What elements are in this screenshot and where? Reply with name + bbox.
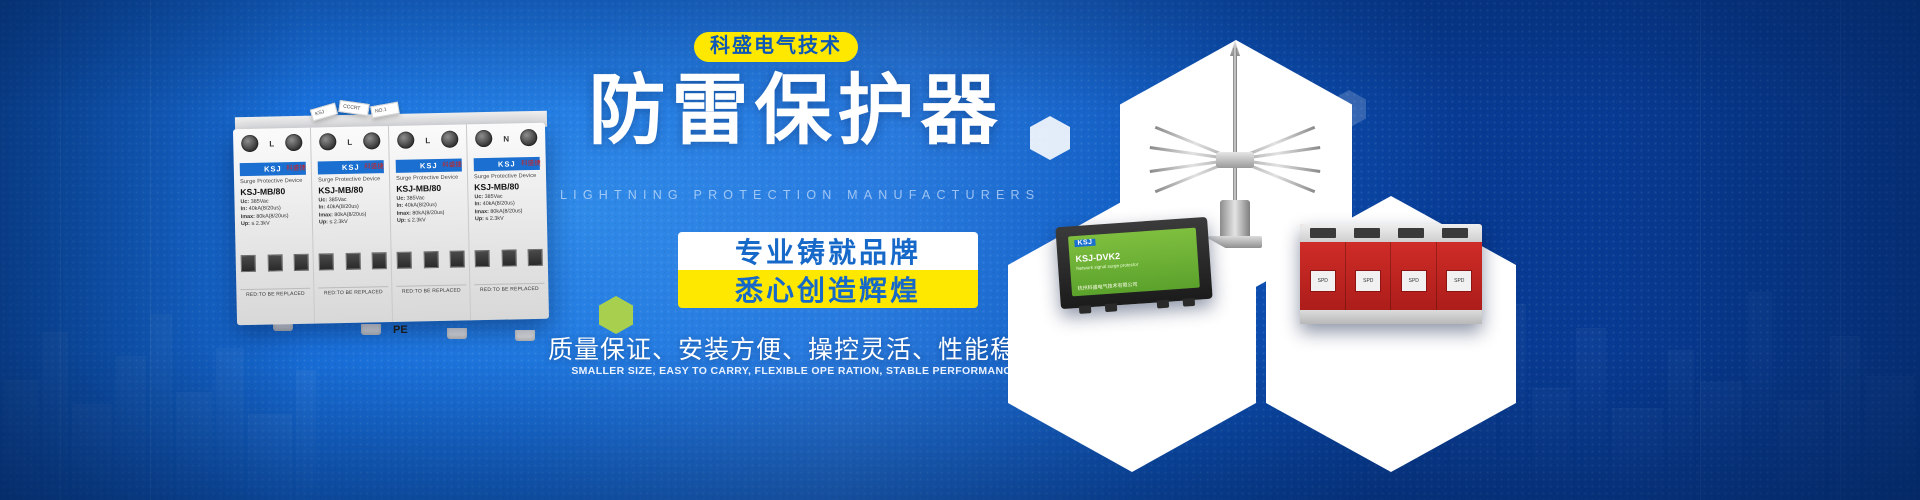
indicator-window: SPD bbox=[1310, 270, 1336, 292]
indicator-window: SPD bbox=[1401, 270, 1427, 292]
spec-row: Imax: 80kA(8/20us) bbox=[241, 213, 289, 220]
device-foot bbox=[515, 330, 535, 341]
terminal-screw-icon bbox=[397, 131, 414, 148]
pe-terminal-label: PE bbox=[393, 324, 408, 336]
spd-pole-1: L KSJ 科盛捷 Surge Protective Device KSJ-MB… bbox=[233, 128, 315, 326]
spd-top-terminals bbox=[1300, 224, 1482, 242]
device-model-label: KSJ-MB/80 bbox=[318, 185, 363, 196]
brand-mark-cn: 科盛捷 bbox=[521, 157, 541, 167]
terminal-screw-icon bbox=[475, 130, 492, 147]
manufacturer-label: 杭州科盛电气技术有限公司 bbox=[1077, 281, 1137, 292]
banner-title: 防雷保护器 bbox=[566, 73, 1026, 150]
spd-pole-2: L KSJ 科盛捷 Surge Protective Device KSJ-MB… bbox=[311, 126, 393, 324]
signal-surge-protector: KSJ KSJ-DVK2 Network signal surge protec… bbox=[1055, 217, 1212, 309]
hexagon-decor-icon bbox=[1030, 116, 1070, 160]
spd-pole-4: N KSJ 科盛捷 Surge Protective Device KSJ-MB… bbox=[467, 123, 549, 321]
indicator-windows bbox=[241, 254, 309, 272]
spec-row: In: 40kA(8/20us) bbox=[241, 206, 281, 213]
terminal-screw-icon bbox=[363, 132, 380, 149]
promo-banner: L KSJ 科盛捷 Surge Protective Device KSJ-MB… bbox=[0, 0, 1920, 500]
spec-row: Uc: 385Vac bbox=[240, 199, 268, 206]
spec-row: Imax: 80kA(8/20us) bbox=[397, 210, 445, 217]
terminal-screw-icon bbox=[285, 134, 302, 151]
device-foot bbox=[447, 328, 467, 339]
device-spec-list: Uc: 385Vac In: 40kA(8/20us) Imax: 80kA(8… bbox=[474, 193, 522, 224]
box-face: KSJ KSJ-DVK2 Network signal surge protec… bbox=[1068, 228, 1200, 297]
box-terminal bbox=[1079, 305, 1092, 314]
spec-row: Uc: 385Vac bbox=[318, 197, 346, 204]
brand-mark-cn: 科盛捷 bbox=[286, 162, 306, 172]
spec-row: In: 40kA(8/20us) bbox=[475, 201, 515, 208]
terminal-screw-icon bbox=[520, 129, 537, 146]
device-model-label: KSJ-MB/80 bbox=[240, 186, 285, 197]
pole-terminal-label: N bbox=[503, 135, 509, 144]
spec-row: Uc: 385Vac bbox=[474, 194, 502, 201]
spd-module-assembly: L KSJ 科盛捷 Surge Protective Device KSJ-MB… bbox=[233, 123, 549, 325]
indicator-windows: SPD SPD SPD SPD bbox=[1300, 270, 1482, 292]
spd-pole-3: L KSJ 科盛捷 Surge Protective Device KSJ-MB… bbox=[389, 124, 471, 322]
spec-row: In: 40kA(8/20us) bbox=[397, 202, 437, 209]
device-type-label: Surge Protective Device bbox=[318, 176, 380, 183]
terminal-slot bbox=[1442, 228, 1468, 238]
indicator-windows bbox=[319, 252, 387, 270]
brand-mark-cn: 科盛捷 bbox=[442, 159, 462, 169]
rod-hub bbox=[1216, 152, 1254, 168]
rod-mast bbox=[1233, 48, 1237, 208]
device-spec-list: Uc: 385Vac In: 40kA(8/20us) Imax: 80kA(8… bbox=[396, 195, 444, 226]
device-foot bbox=[361, 324, 381, 335]
spec-row: Up: ≤ 2.3kV bbox=[241, 221, 270, 228]
device-model-label: KSJ-DVK2 bbox=[1075, 251, 1120, 264]
box-terminal bbox=[1183, 298, 1196, 307]
device-model-label: KSJ-MB/80 bbox=[474, 181, 519, 192]
rod-base bbox=[1220, 200, 1250, 240]
feature-list-en: SMALLER SIZE, EASY TO CARRY, FLEXIBLE OP… bbox=[540, 365, 1050, 377]
device-type-label: Surge Protective Device bbox=[474, 173, 536, 180]
spec-row: Imax: 80kA(8/20us) bbox=[475, 208, 523, 215]
device-model-label: KSJ-MB/80 bbox=[396, 183, 441, 194]
device-spec-list: Uc: 385Vac In: 40kA(8/20us) Imax: 80kA(8… bbox=[318, 197, 366, 228]
spec-row: Imax: 80kA(8/20us) bbox=[319, 211, 367, 218]
surge-protector-product-photo: L KSJ 科盛捷 Surge Protective Device KSJ-MB… bbox=[215, 108, 565, 338]
replace-note: RED:TO BE REPLACED bbox=[396, 284, 466, 294]
spec-row: Up: ≤ 2.3kV bbox=[319, 219, 348, 226]
pole-terminal-label: L bbox=[269, 139, 274, 148]
device-type-label: Surge Protective Device bbox=[396, 175, 458, 182]
indicator-windows bbox=[475, 249, 543, 267]
spec-row: In: 40kA(8/20us) bbox=[319, 204, 359, 211]
company-badge: 科盛电气技术 bbox=[694, 32, 858, 62]
red-surge-protector: SPD SPD SPD SPD bbox=[1300, 224, 1482, 324]
spd-bottom-rail bbox=[1300, 310, 1482, 324]
replace-note: RED:TO BE REPLACED bbox=[318, 286, 388, 296]
indicator-window: SPD bbox=[1355, 270, 1381, 292]
terminal-slot bbox=[1354, 228, 1380, 238]
indicator-window: SPD bbox=[1446, 270, 1472, 292]
brand-mark: KSJ bbox=[1074, 239, 1096, 247]
spec-row: Up: ≤ 2.3kV bbox=[397, 217, 426, 224]
feature-list-cn: 质量保证、安装方便、操控灵活、性能稳定 bbox=[540, 330, 1050, 366]
hexagon-accent-icon bbox=[599, 296, 633, 334]
brand-mark-cn: 科盛捷 bbox=[364, 160, 384, 170]
spec-row: Up: ≤ 2.3kV bbox=[475, 216, 504, 223]
box-terminal bbox=[1157, 300, 1170, 309]
pole-terminal-label: L bbox=[347, 138, 352, 147]
spec-row: Uc: 385Vac bbox=[396, 195, 424, 202]
banner-copy-block: 科盛电气技术 防雷保护器 LIGHTNING PROTECTION MANUFA… bbox=[560, 0, 1030, 500]
product-hex-cluster: KSJ KSJ-DVK2 Network signal surge protec… bbox=[1000, 0, 1920, 500]
replace-note: RED:TO BE REPLACED bbox=[240, 288, 310, 298]
device-type-label: Surge Protective Device bbox=[240, 178, 302, 185]
terminal-slot bbox=[1398, 228, 1424, 238]
terminal-screw-icon bbox=[441, 131, 458, 148]
terminal-screw-icon bbox=[319, 133, 336, 150]
slogan-primary: 专业铸就品牌 bbox=[678, 232, 978, 270]
slogan-secondary: 悉心创造辉煌 bbox=[678, 270, 978, 308]
banner-subtitle-en: LIGHTNING PROTECTION MANUFACTURERS bbox=[560, 188, 1030, 202]
indicator-windows bbox=[397, 250, 465, 268]
replace-note: RED:TO BE REPLACED bbox=[474, 283, 544, 293]
device-spec-list: Uc: 385Vac In: 40kA(8/20us) Imax: 80kA(8… bbox=[240, 198, 288, 229]
terminal-slot bbox=[1310, 228, 1336, 238]
pole-terminal-label: L bbox=[425, 136, 430, 145]
terminal-screw-icon bbox=[241, 135, 258, 152]
box-terminal bbox=[1105, 303, 1118, 312]
